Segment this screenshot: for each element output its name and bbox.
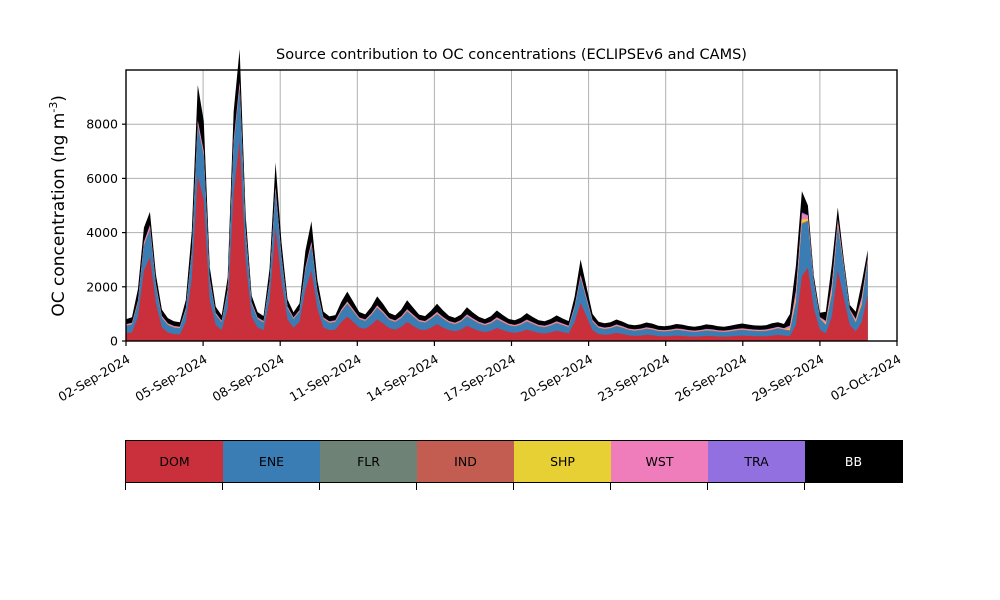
plot-area: 0200040006000800002-Sep-202405-Sep-20240… bbox=[0, 0, 1000, 440]
x-tick-label: 17-Sep-2024 bbox=[441, 351, 518, 404]
x-tick-label: 11-Sep-2024 bbox=[287, 351, 364, 404]
legend-item-bb[interactable]: BB bbox=[805, 441, 902, 482]
x-tick-label: 14-Sep-2024 bbox=[364, 351, 441, 404]
legend-item-tra[interactable]: TRA bbox=[708, 441, 805, 482]
x-tick-label: 08-Sep-2024 bbox=[210, 351, 287, 404]
legend-item-label: TRA bbox=[744, 454, 768, 469]
legend-item-ind[interactable]: IND bbox=[417, 441, 514, 482]
x-tick-label: 29-Sep-2024 bbox=[749, 351, 826, 404]
y-tick-label: 8000 bbox=[86, 117, 118, 132]
legend: DOMENEFLRINDSHPWSTTRABB bbox=[125, 440, 903, 483]
x-tick-label: 23-Sep-2024 bbox=[595, 351, 672, 404]
legend-item-label: WST bbox=[646, 454, 674, 469]
y-axis: 02000400060008000 bbox=[86, 117, 126, 349]
legend-item-label: IND bbox=[454, 454, 477, 469]
legend-item-ene[interactable]: ENE bbox=[223, 441, 320, 482]
x-tick-label: 26-Sep-2024 bbox=[672, 351, 749, 404]
legend-item-label: ENE bbox=[259, 454, 284, 469]
x-tick-label: 20-Sep-2024 bbox=[518, 351, 595, 404]
y-tick-label: 0 bbox=[110, 334, 118, 349]
x-tick-label: 05-Sep-2024 bbox=[133, 351, 210, 404]
y-tick-label: 4000 bbox=[86, 225, 118, 240]
legend-item-wst[interactable]: WST bbox=[611, 441, 708, 482]
legend-item-flr[interactable]: FLR bbox=[320, 441, 417, 482]
x-axis: 02-Sep-202405-Sep-202408-Sep-202411-Sep-… bbox=[55, 341, 903, 404]
legend-item-label: SHP bbox=[550, 454, 575, 469]
legend-item-label: BB bbox=[845, 454, 862, 469]
legend-item-shp[interactable]: SHP bbox=[514, 441, 611, 482]
x-tick-label: 02-Sep-2024 bbox=[55, 351, 132, 404]
legend-tick-bar bbox=[125, 483, 901, 491]
y-tick-label: 6000 bbox=[86, 171, 118, 186]
x-tick-label: 02-Oct-2024 bbox=[828, 351, 904, 403]
y-tick-label: 2000 bbox=[86, 279, 118, 294]
figure: Source contribution to OC concentrations… bbox=[0, 0, 1000, 600]
legend-item-label: DOM bbox=[159, 454, 189, 469]
legend-item-dom[interactable]: DOM bbox=[126, 441, 223, 482]
legend-item-label: FLR bbox=[357, 454, 380, 469]
